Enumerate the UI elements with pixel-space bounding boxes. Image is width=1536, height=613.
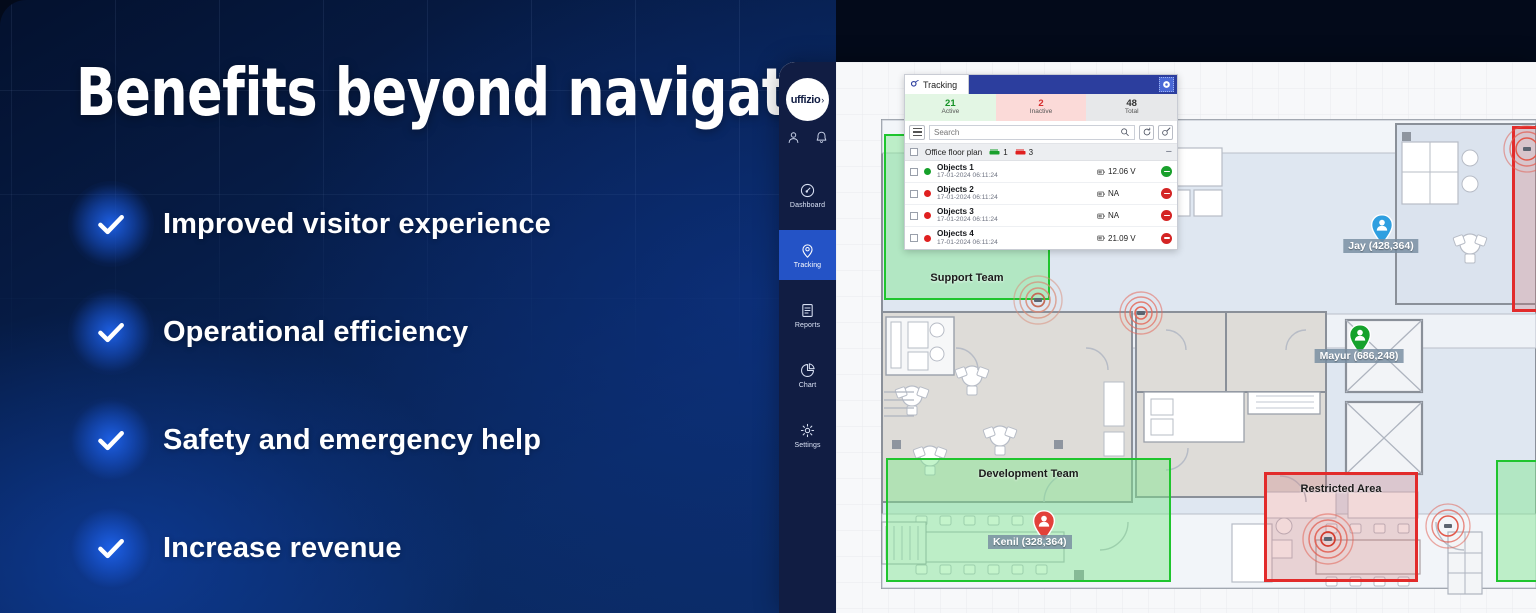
marker-label: Kenil (328,364) <box>988 535 1072 549</box>
list-item: Safety and emergency help <box>80 409 720 471</box>
row-content: Objects 1 17-01-2024 06:11:24 <box>937 164 1091 180</box>
object-name: Objects 4 <box>937 230 1091 239</box>
tracking-icon <box>910 80 919 89</box>
row-checkbox[interactable] <box>910 234 918 242</box>
map-marker-mayur[interactable]: Mayur (686,248) <box>1348 324 1370 353</box>
document-icon <box>799 302 816 319</box>
sidebar-item-label: Chart <box>799 382 817 389</box>
list-item-label: Safety and emergency help <box>163 424 541 457</box>
list-item: Improved visitor experience <box>80 193 720 255</box>
device-green-icon <box>989 148 1000 156</box>
refresh-icon <box>1142 127 1152 137</box>
sidebar-item-label: Settings <box>794 442 820 449</box>
voltage-value: 21.09 V <box>1108 234 1136 243</box>
object-name: Objects 2 <box>937 186 1091 195</box>
list-item: Increase revenue <box>80 517 720 579</box>
voltage-value: NA <box>1108 189 1119 198</box>
beacon-icon <box>1502 124 1536 174</box>
table-row[interactable]: Objects 2 17-01-2024 06:11:24 NA <box>905 183 1177 205</box>
sidebar-item-chart[interactable]: Chart <box>779 350 836 400</box>
status-dot <box>924 212 931 219</box>
beacon-icon <box>1301 512 1355 566</box>
battery-icon <box>1097 190 1105 198</box>
marker-label: Mayur (686,248) <box>1315 349 1404 363</box>
panel-toolbar <box>905 121 1177 144</box>
check-badge <box>80 301 142 363</box>
object-timestamp: 17-01-2024 06:11:24 <box>937 239 1091 246</box>
list-item: Operational efficiency <box>80 301 720 363</box>
locate-icon <box>1161 127 1171 137</box>
voltage-cell: 21.09 V <box>1097 234 1155 243</box>
location-pin-icon <box>799 242 816 259</box>
pin: Mayur (686,248) <box>1348 324 1370 353</box>
status-badge-inactive[interactable]: 2 Inactive <box>996 94 1087 121</box>
group-name: Office floor plan <box>925 148 982 157</box>
pin: Jay (428,364) <box>1370 214 1392 243</box>
check-badge <box>80 409 142 471</box>
search-input[interactable] <box>934 128 1120 137</box>
status-caption: Active <box>941 109 959 116</box>
gear-icon <box>799 422 816 439</box>
object-name: Objects 3 <box>937 208 1091 217</box>
voltage-cell: NA <box>1097 189 1155 198</box>
row-checkbox[interactable] <box>910 212 918 220</box>
user-icon[interactable] <box>786 130 801 145</box>
zone-label: Support Team <box>930 272 1003 284</box>
bell-icon[interactable] <box>814 130 829 145</box>
row-status-badge[interactable] <box>1161 188 1172 199</box>
row-status-badge[interactable] <box>1161 210 1172 221</box>
count-value: 1 <box>1003 148 1007 157</box>
pie-chart-icon <box>799 362 816 379</box>
logo-text: uffizio <box>791 94 821 106</box>
row-checkbox[interactable] <box>910 190 918 198</box>
group-header-office-floor-plan[interactable]: Office floor plan 1 3 <box>905 144 1177 161</box>
map-marker-jay[interactable]: Jay (428,364) <box>1370 214 1392 243</box>
row-status-badge[interactable] <box>1161 166 1172 177</box>
table-row[interactable]: Objects 4 17-01-2024 06:11:24 21.09 V <box>905 227 1177 249</box>
search-icon[interactable] <box>1120 127 1130 137</box>
minus-icon[interactable]: − <box>1166 147 1172 158</box>
object-name: Objects 1 <box>937 164 1091 173</box>
check-icon <box>94 207 128 241</box>
speedometer-icon <box>799 182 816 199</box>
hamburger-icon[interactable] <box>909 125 925 140</box>
sidebar-item-label: Reports <box>795 322 820 329</box>
gear-icon <box>1162 80 1171 89</box>
battery-icon <box>1097 234 1105 242</box>
locate-button[interactable] <box>1158 125 1173 140</box>
check-icon <box>94 531 128 565</box>
battery-icon <box>1097 212 1105 220</box>
group-checkbox[interactable] <box>910 148 918 156</box>
object-timestamp: 17-01-2024 06:11:24 <box>937 194 1091 201</box>
group-active-count: 1 <box>989 148 1007 157</box>
status-dot <box>924 168 931 175</box>
slide-root: Benefits beyond navigation Improved visi… <box>0 0 1536 613</box>
voltage-cell: 12.06 V <box>1097 167 1155 176</box>
tab-tracking[interactable]: Tracking <box>905 75 969 94</box>
status-badge-active[interactable]: 21 Active <box>905 94 996 121</box>
count-value: 3 <box>1029 148 1033 157</box>
check-badge <box>80 517 142 579</box>
status-caption: Inactive <box>1030 109 1052 116</box>
status-dot <box>924 190 931 197</box>
table-row[interactable]: Objects 1 17-01-2024 06:11:24 12.06 V <box>905 161 1177 183</box>
check-badge <box>80 193 142 255</box>
marker-label: Jay (428,364) <box>1343 239 1418 253</box>
object-timestamp: 17-01-2024 06:11:24 <box>937 216 1091 223</box>
pin: Kenil (328,364) <box>1032 510 1054 539</box>
device-red-icon <box>1015 148 1026 156</box>
left-content-panel: Benefits beyond navigation Improved visi… <box>0 0 836 613</box>
sidebar-item-label: Tracking <box>794 262 821 269</box>
map-marker-kenil[interactable]: Kenil (328,364) <box>1032 510 1054 539</box>
sidebar-nav: Dashboard Tracking Reports <box>779 170 836 470</box>
status-caption: Total <box>1125 109 1139 116</box>
floor-plan-map[interactable]: Support Team Development Team Restricted… <box>836 62 1536 613</box>
list-item-label: Increase revenue <box>163 532 402 565</box>
row-checkbox[interactable] <box>910 168 918 176</box>
table-row[interactable]: Objects 3 17-01-2024 06:11:24 NA <box>905 205 1177 227</box>
check-icon <box>94 315 128 349</box>
row-content: Objects 3 17-01-2024 06:11:24 <box>937 208 1091 224</box>
zone-right-green[interactable] <box>1496 460 1536 582</box>
zone-label: Development Team <box>978 468 1078 580</box>
status-badge-total[interactable]: 48 Total <box>1086 94 1177 121</box>
page-title: Benefits beyond navigation <box>76 57 836 129</box>
row-content: Objects 2 17-01-2024 06:11:24 <box>937 186 1091 202</box>
voltage-cell: NA <box>1097 211 1155 220</box>
sidebar-item-settings[interactable]: Settings <box>779 410 836 460</box>
object-timestamp: 17-01-2024 06:11:24 <box>937 172 1091 179</box>
status-summary: 21 Active 2 Inactive 48 Total <box>905 94 1177 121</box>
benefits-list: Improved visitor experience Operational … <box>80 193 720 613</box>
sidebar-item-tracking[interactable]: Tracking <box>779 230 836 280</box>
beacon-icon <box>1424 502 1472 550</box>
group-inactive-count: 3 <box>1015 148 1033 157</box>
sidebar-item-reports[interactable]: Reports <box>779 290 836 340</box>
logo-arrow-icon: › <box>821 95 824 105</box>
app-screenshot: uffizio› <box>779 62 1536 613</box>
check-icon <box>94 423 128 457</box>
panel-settings-button[interactable] <box>1159 77 1174 92</box>
beacon-icon <box>1118 290 1164 336</box>
list-item-label: Improved visitor experience <box>163 208 551 241</box>
battery-icon <box>1097 168 1105 176</box>
beacon-icon <box>1012 274 1064 326</box>
tracking-panel[interactable]: Tracking 21 Active 2 <box>904 74 1178 250</box>
search-input-wrap[interactable] <box>929 125 1135 140</box>
logo: uffizio› <box>786 78 829 121</box>
row-status-badge[interactable] <box>1161 233 1172 244</box>
app-sidebar: uffizio› <box>779 62 836 613</box>
sidebar-top-icons <box>779 130 836 145</box>
voltage-value: NA <box>1108 211 1119 220</box>
sidebar-item-label: Dashboard <box>790 202 825 209</box>
panel-titlebar: Tracking <box>905 75 1177 94</box>
voltage-value: 12.06 V <box>1108 167 1136 176</box>
sidebar-item-dashboard[interactable]: Dashboard <box>779 170 836 220</box>
zone-development-team[interactable]: Development Team <box>886 458 1171 582</box>
refresh-button[interactable] <box>1139 125 1154 140</box>
tab-label: Tracking <box>923 80 957 90</box>
status-dot <box>924 235 931 242</box>
list-item-label: Operational efficiency <box>163 316 468 349</box>
row-content: Objects 4 17-01-2024 06:11:24 <box>937 230 1091 246</box>
